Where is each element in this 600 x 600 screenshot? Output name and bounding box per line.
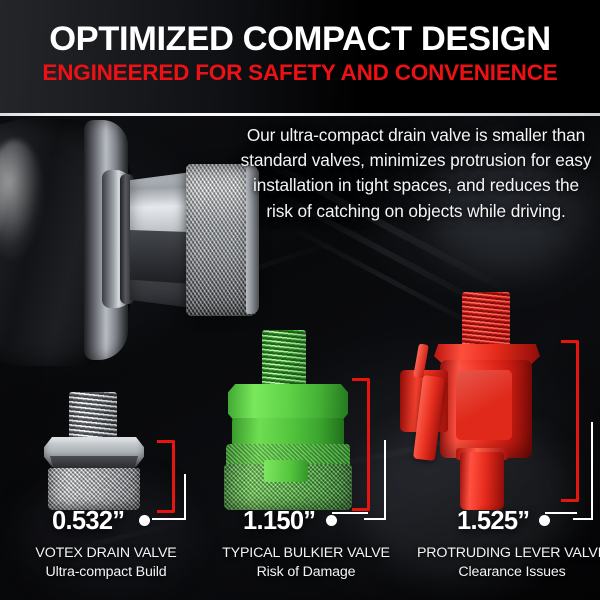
caption-lever-note: Clearance Issues — [396, 563, 600, 582]
leader-line-lever — [573, 422, 593, 520]
silver-knurled-cap — [48, 468, 140, 510]
caption-typical-note: Risk of Damage — [196, 563, 416, 582]
measurement-value-typical: 1.150” — [243, 509, 315, 535]
caption-votex: VOTEX DRAIN VALVE Ultra-compact Build — [12, 544, 200, 581]
leader-dot-votex — [139, 515, 150, 526]
caption-typical: TYPICAL BULKIER VALVE Risk of Damage — [196, 544, 416, 581]
caption-lever: PROTRUDING LEVER VALVE Clearance Issues — [396, 544, 600, 581]
red-outlet-nipple — [460, 452, 504, 510]
green-threaded-nipple — [262, 330, 306, 388]
product-typical-bulkier-valve — [222, 330, 354, 510]
leader-stub-lever — [545, 512, 577, 521]
header-band: OPTIMIZED COMPACT DESIGN ENGINEERED FOR … — [0, 0, 600, 115]
product-protruding-lever-valve — [400, 292, 568, 510]
silver-threaded-nipple — [69, 392, 117, 440]
green-hex-collar — [228, 384, 348, 422]
poster-canvas: OPTIMIZED COMPACT DESIGN ENGINEERED FOR … — [0, 0, 600, 600]
silver-hex-shadow-facet — [46, 456, 142, 468]
caption-votex-name: VOTEX DRAIN VALVE — [12, 544, 200, 563]
hero-installed-valve-image — [0, 112, 250, 367]
hero-hex-facet — [130, 230, 192, 284]
measurement-value-votex: 0.532” — [52, 509, 124, 535]
product-votex-drain-valve — [38, 392, 150, 510]
body-paragraph: Our ultra-compact drain valve is smaller… — [240, 123, 592, 224]
green-release-tab — [264, 460, 308, 482]
leader-stub-typical — [332, 512, 368, 521]
measurement-value-lever: 1.525” — [457, 509, 529, 535]
page-title: OPTIMIZED COMPACT DESIGN — [0, 22, 600, 57]
caption-typical-name: TYPICAL BULKIER VALVE — [196, 544, 416, 563]
red-valve-body-face — [456, 370, 512, 440]
header-divider-rule — [0, 113, 600, 116]
page-subtitle: ENGINEERED FOR SAFETY AND CONVENIENCE — [0, 62, 600, 85]
red-threaded-nipple — [462, 292, 510, 348]
leader-line-votex — [152, 474, 186, 520]
caption-votex-note: Ultra-compact Build — [12, 563, 200, 582]
leader-line-typical — [364, 440, 386, 520]
caption-lever-name: PROTRUDING LEVER VALVE — [396, 544, 600, 563]
